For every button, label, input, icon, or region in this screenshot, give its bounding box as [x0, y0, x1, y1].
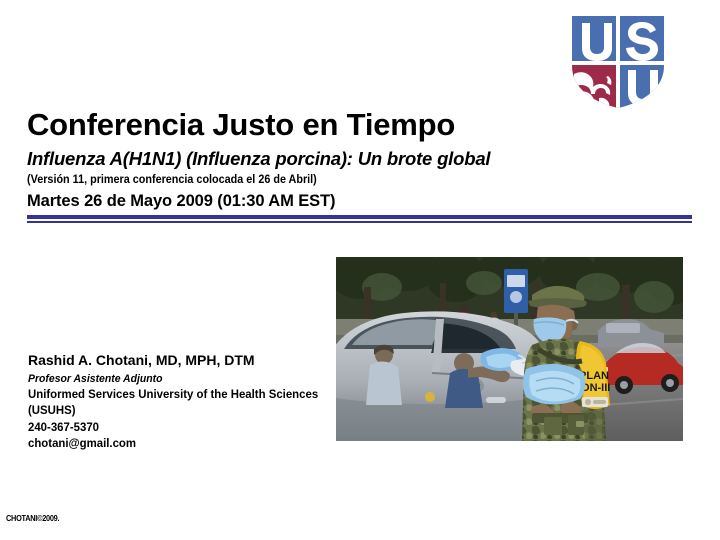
presenter-info: Rashid A. Chotani, MD, MPH, DTM Profesor… [28, 352, 328, 451]
divider-rule [27, 215, 692, 224]
date-line: Martes 26 de Mayo 2009 (01:30 AM EST) [27, 192, 693, 212]
usu-shield-logo [566, 14, 670, 110]
page-title: Conferencia Justo en Tiempo [27, 108, 693, 141]
version-note: (Versión 11, primera conferencia colocad… [27, 174, 653, 188]
copyright-footer: CHOTANI©2009. [6, 514, 59, 523]
title-block: Conferencia Justo en Tiempo Influenza A(… [27, 108, 693, 211]
presentation-slide: Conferencia Justo en Tiempo Influenza A(… [0, 0, 720, 540]
presenter-role: Profesor Asistente Adjunto [28, 372, 313, 386]
presenter-affiliation-line1: Uniformed Services University of the Hea… [28, 387, 313, 402]
soldier-distributing-masks-photo: PLAN DN-III [336, 257, 683, 441]
divider-bar-thin [27, 221, 692, 223]
slide-subtitle: Influenza A(H1N1) (Influenza porcina): U… [27, 148, 693, 169]
presenter-phone: 240-367-5370 [28, 420, 313, 435]
presenter-name: Rashid A. Chotani, MD, MPH, DTM [28, 352, 328, 370]
presenter-email[interactable]: chotani@gmail.com [28, 436, 313, 451]
svg-text:DN-III: DN-III [582, 382, 611, 394]
presenter-affiliation-line2: (USUHS) [28, 403, 313, 418]
